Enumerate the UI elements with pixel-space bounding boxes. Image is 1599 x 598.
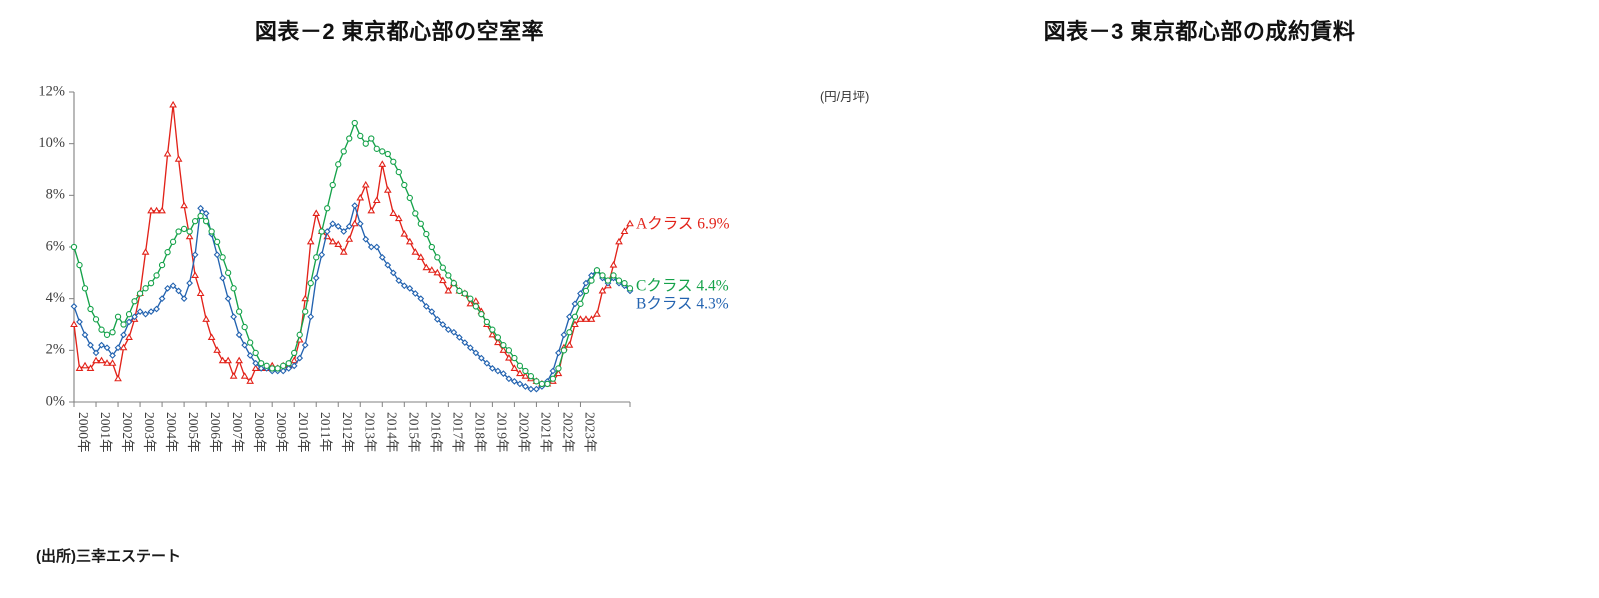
data-point-marker	[275, 366, 280, 371]
data-point-marker	[501, 343, 506, 348]
data-point-marker	[390, 210, 396, 215]
x-tick-label: 2023年	[582, 412, 597, 453]
data-point-marker	[143, 249, 149, 254]
data-point-marker	[424, 231, 429, 236]
data-point-marker	[622, 281, 627, 286]
data-point-marker	[286, 361, 291, 366]
data-point-marker	[429, 244, 434, 249]
x-tick-label: 2000年	[76, 412, 91, 453]
x-tick-label: 2006年	[208, 412, 223, 453]
data-point-marker	[572, 301, 577, 306]
x-tick-label: 2007年	[230, 412, 245, 453]
data-point-marker	[248, 340, 253, 345]
data-point-marker	[308, 314, 313, 319]
data-point-marker	[71, 304, 76, 309]
data-point-marker	[242, 343, 247, 348]
data-point-marker	[187, 281, 192, 286]
data-point-marker	[187, 229, 192, 234]
data-point-marker	[512, 355, 517, 360]
figure-2-plot: 0%2%4%6%8%10%12%2000年2001年2002年2003年2004…	[22, 74, 762, 494]
data-point-marker	[110, 360, 116, 365]
data-point-marker	[281, 368, 286, 373]
data-point-marker	[374, 244, 379, 249]
data-point-marker	[77, 262, 82, 267]
data-point-marker	[462, 291, 467, 296]
data-point-marker	[627, 286, 632, 291]
data-point-marker	[412, 249, 418, 254]
data-point-marker	[407, 195, 412, 200]
data-point-marker	[181, 226, 186, 231]
data-point-marker	[132, 299, 137, 304]
data-point-marker	[583, 316, 589, 321]
data-point-marker	[220, 275, 225, 280]
data-point-marker	[71, 244, 76, 249]
x-tick-label: 2009年	[274, 412, 289, 453]
data-point-marker	[358, 221, 363, 226]
data-point-marker	[314, 255, 319, 260]
data-point-marker	[556, 350, 561, 355]
data-point-marker	[363, 182, 369, 187]
data-point-marker	[517, 363, 522, 368]
data-point-marker	[99, 358, 105, 363]
data-point-marker	[379, 161, 385, 166]
data-point-marker	[429, 267, 435, 272]
data-point-marker	[352, 203, 357, 208]
data-point-marker	[385, 187, 391, 192]
data-point-marker	[352, 120, 357, 125]
data-point-marker	[204, 219, 209, 224]
data-point-marker	[165, 286, 170, 291]
data-point-marker	[594, 311, 600, 316]
data-point-marker	[545, 381, 550, 386]
data-point-marker	[159, 262, 164, 267]
data-point-marker	[341, 149, 346, 154]
figure-3-title: 図表－3 東京都心部の成約賃料	[800, 14, 1599, 46]
data-point-marker	[253, 350, 258, 355]
data-point-marker	[308, 239, 314, 244]
data-point-marker	[264, 363, 269, 368]
x-tick-label: 2003年	[142, 412, 157, 453]
data-point-marker	[550, 376, 555, 381]
data-point-marker	[357, 195, 363, 200]
data-point-marker	[572, 314, 577, 319]
data-point-marker	[616, 278, 621, 283]
data-point-marker	[313, 210, 319, 215]
x-tick-label: 2014年	[384, 412, 399, 453]
data-point-marker	[231, 373, 237, 378]
figure-2-source: (出所)三幸エステート	[36, 545, 181, 566]
y-tick-label: 2%	[46, 342, 65, 358]
data-point-marker	[314, 275, 319, 280]
data-point-marker	[523, 368, 528, 373]
data-point-marker	[143, 286, 148, 291]
data-point-marker	[236, 358, 242, 363]
data-point-marker	[71, 322, 77, 327]
data-point-marker	[226, 296, 231, 301]
x-tick-label: 2017年	[450, 412, 465, 453]
data-point-marker	[176, 229, 181, 234]
data-point-marker	[170, 102, 176, 107]
data-point-marker	[292, 350, 297, 355]
data-point-marker	[93, 358, 99, 363]
data-point-marker	[209, 229, 214, 234]
figure-3-panel: 図表－3 東京都心部の成約賃料 (円/月坪) 5,000円10,000円15,0…	[800, 0, 1599, 598]
data-point-marker	[237, 332, 242, 337]
data-point-marker	[363, 141, 368, 146]
series-label-b: Bクラス 4.3%	[636, 295, 729, 313]
data-point-marker	[479, 312, 484, 317]
data-point-marker	[528, 374, 533, 379]
y-tick-label: 0%	[46, 393, 65, 409]
plot-left-svg: 0%2%4%6%8%10%12%2000年2001年2002年2003年2004…	[22, 74, 762, 494]
data-point-marker	[297, 332, 302, 337]
data-point-marker	[611, 273, 616, 278]
data-point-marker	[495, 368, 500, 373]
x-tick-label: 2018年	[472, 412, 487, 453]
data-point-marker	[506, 348, 511, 353]
x-tick-label: 2012年	[340, 412, 355, 453]
data-point-marker	[534, 386, 539, 391]
data-point-marker	[115, 314, 120, 319]
data-point-marker	[346, 236, 352, 241]
data-point-marker	[231, 314, 236, 319]
data-point-marker	[159, 208, 165, 213]
data-point-marker	[457, 288, 462, 293]
data-point-marker	[550, 368, 555, 373]
x-tick-label: 2016年	[428, 412, 443, 453]
data-point-marker	[115, 376, 121, 381]
data-point-marker	[440, 265, 445, 270]
data-point-marker	[281, 363, 286, 368]
data-point-marker	[203, 316, 209, 321]
data-point-marker	[198, 213, 203, 218]
series-Aクラス	[71, 102, 633, 386]
data-point-marker	[170, 239, 175, 244]
data-point-marker	[303, 309, 308, 314]
data-point-marker	[385, 151, 390, 156]
data-point-marker	[594, 268, 599, 273]
data-point-marker	[148, 309, 153, 314]
data-point-marker	[121, 332, 126, 337]
figures-page: 図表－2 東京都心部の空室率 0%2%4%6%8%10%12%2000年2001…	[0, 0, 1599, 598]
data-point-marker	[126, 334, 132, 339]
data-point-marker	[567, 330, 572, 335]
data-point-marker	[137, 291, 142, 296]
data-point-marker	[336, 162, 341, 167]
data-point-marker	[418, 221, 423, 226]
figure-2-panel: 図表－2 東京都心部の空室率 0%2%4%6%8%10%12%2000年2001…	[0, 0, 799, 598]
data-point-marker	[104, 332, 109, 337]
data-point-marker	[82, 363, 88, 368]
data-point-marker	[435, 255, 440, 260]
data-point-marker	[193, 252, 198, 257]
data-point-marker	[237, 309, 242, 314]
x-tick-label: 2020年	[516, 412, 531, 453]
data-point-marker	[523, 384, 528, 389]
y-tick-label: 8%	[46, 187, 65, 203]
data-point-marker	[583, 288, 588, 293]
data-point-marker	[567, 342, 573, 347]
data-point-marker	[616, 239, 622, 244]
data-point-marker	[215, 239, 220, 244]
data-point-marker	[446, 273, 451, 278]
data-point-marker	[226, 270, 231, 275]
x-tick-label: 2004年	[164, 412, 179, 453]
data-point-marker	[148, 208, 154, 213]
data-point-marker	[567, 314, 572, 319]
data-point-marker	[121, 345, 127, 350]
data-point-marker	[358, 133, 363, 138]
data-point-marker	[512, 379, 517, 384]
data-point-marker	[374, 146, 379, 151]
data-point-marker	[225, 358, 231, 363]
data-point-marker	[589, 278, 594, 283]
data-point-marker	[335, 241, 341, 246]
x-tick-label: 2013年	[362, 412, 377, 453]
data-point-marker	[396, 169, 401, 174]
data-point-marker	[308, 281, 313, 286]
x-tick-label: 2022年	[560, 412, 575, 453]
data-point-marker	[231, 286, 236, 291]
data-point-marker	[165, 151, 171, 156]
data-point-marker	[368, 208, 374, 213]
data-point-marker	[473, 304, 478, 309]
data-point-marker	[303, 343, 308, 348]
data-point-marker	[517, 381, 522, 386]
data-point-marker	[88, 306, 93, 311]
data-point-marker	[468, 296, 473, 301]
data-point-marker	[511, 365, 517, 370]
series-label-c: Cクラス 4.4%	[636, 277, 729, 295]
data-point-marker	[193, 219, 198, 224]
x-tick-label: 2008年	[252, 412, 267, 453]
data-point-marker	[215, 252, 220, 257]
data-point-marker	[270, 366, 275, 371]
data-point-marker	[259, 361, 264, 366]
series-Cクラス	[71, 120, 632, 386]
data-point-marker	[578, 301, 583, 306]
data-point-marker	[198, 291, 204, 296]
data-point-marker	[154, 208, 160, 213]
data-point-marker	[495, 335, 500, 340]
data-point-marker	[143, 312, 148, 317]
data-point-marker	[319, 229, 324, 234]
data-point-marker	[611, 262, 617, 267]
data-point-marker	[154, 306, 159, 311]
data-point-marker	[528, 386, 533, 391]
data-point-marker	[539, 381, 544, 386]
data-point-marker	[391, 159, 396, 164]
data-point-marker	[220, 255, 225, 260]
data-point-marker	[159, 296, 164, 301]
y-tick-label: 10%	[38, 135, 65, 151]
x-tick-label: 2021年	[538, 412, 553, 453]
data-point-marker	[165, 250, 170, 255]
data-point-marker	[192, 272, 198, 277]
data-point-marker	[209, 334, 215, 339]
data-point-marker	[154, 273, 159, 278]
data-point-marker	[561, 348, 566, 353]
data-point-marker	[104, 360, 110, 365]
data-point-marker	[110, 330, 115, 335]
data-point-marker	[556, 366, 561, 371]
data-point-marker	[600, 273, 605, 278]
x-tick-label: 2001年	[98, 412, 113, 453]
data-point-marker	[380, 149, 385, 154]
data-point-marker	[93, 317, 98, 322]
data-point-marker	[451, 281, 456, 286]
data-point-marker	[176, 156, 182, 161]
data-point-marker	[220, 358, 226, 363]
data-point-marker	[242, 324, 247, 329]
x-tick-label: 2019年	[494, 412, 509, 453]
data-point-marker	[325, 206, 330, 211]
data-point-marker	[561, 332, 566, 337]
data-point-marker	[82, 332, 87, 337]
data-point-marker	[374, 198, 380, 203]
data-point-marker	[484, 319, 489, 324]
data-point-marker	[347, 136, 352, 141]
data-point-marker	[490, 327, 495, 332]
data-point-marker	[181, 203, 187, 208]
data-point-marker	[578, 291, 583, 296]
data-point-marker	[82, 286, 87, 291]
data-point-marker	[319, 252, 324, 257]
data-point-marker	[534, 379, 539, 384]
data-point-marker	[401, 231, 407, 236]
data-point-marker	[605, 278, 610, 283]
data-point-marker	[214, 347, 220, 352]
series-line	[74, 105, 630, 384]
data-point-marker	[402, 182, 407, 187]
y-tick-label: 6%	[46, 238, 65, 254]
data-point-marker	[242, 373, 248, 378]
y-tick-label: 12%	[38, 83, 65, 99]
data-point-marker	[369, 136, 374, 141]
data-point-marker	[627, 221, 633, 226]
data-point-marker	[99, 327, 104, 332]
x-tick-label: 2011年	[318, 412, 333, 452]
data-point-marker	[423, 265, 429, 270]
data-point-marker	[330, 182, 335, 187]
x-tick-label: 2015年	[406, 412, 421, 453]
data-point-marker	[126, 312, 131, 317]
data-point-marker	[352, 221, 358, 226]
data-point-marker	[578, 316, 584, 321]
y-tick-label: 4%	[46, 290, 65, 306]
figure-3-unit-label: (円/月坪)	[820, 86, 869, 105]
data-point-marker	[434, 270, 440, 275]
x-tick-label: 2005年	[186, 412, 201, 453]
x-tick-label: 2002年	[120, 412, 135, 453]
data-point-marker	[121, 322, 126, 327]
data-point-marker	[148, 281, 153, 286]
data-point-marker	[77, 319, 82, 324]
x-tick-label: 2010年	[296, 412, 311, 453]
series-label-a: Aクラス 6.9%	[636, 215, 730, 233]
data-point-marker	[413, 211, 418, 216]
series-line	[74, 123, 630, 384]
